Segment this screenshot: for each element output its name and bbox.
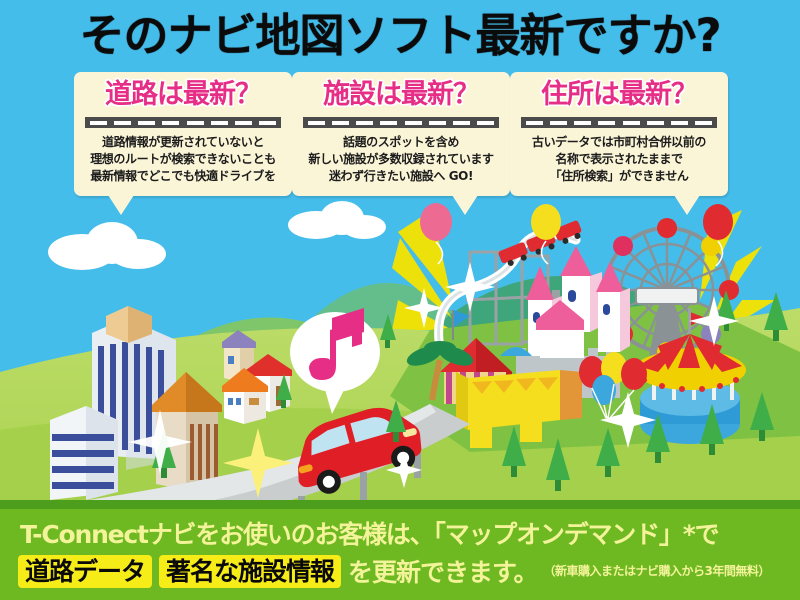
callout-address-title: 住所は最新？ xyxy=(510,72,728,112)
callout-address: 住所は最新？ 古いデータでは市町村合併以前の 名称で表示されたままで 「住所検索… xyxy=(510,72,728,196)
callout-line: 古いデータでは市町村合併以前の xyxy=(510,134,728,151)
road-divider-icon xyxy=(303,117,499,128)
page-title: そのナビ地図ソフト最新ですか? xyxy=(0,6,800,66)
callout-road-body: 道路情報が更新されていないと 理想のルートが検索できないことも 最新情報でどこで… xyxy=(74,134,292,185)
banner-subline: 道路データ 著名な施設情報 を更新できます。 （新車購入またはナビ購入から3年間… xyxy=(0,553,800,589)
callout-address-body: 古いデータでは市町村合併以前の 名称で表示されたままで 「住所検索」ができません xyxy=(510,134,728,185)
callout-road: 道路は最新？ 道路情報が更新されていないと 理想のルートが検索できないことも 最… xyxy=(74,72,292,196)
low-rise-building xyxy=(50,406,118,500)
callout-line: 理想のルートが検索できないことも xyxy=(74,151,292,168)
callout-line: 新しい施設が多数収録されています xyxy=(292,151,510,168)
callout-tail xyxy=(674,195,700,215)
callout-line: 「住所検索」ができません xyxy=(510,168,728,185)
tag-road-data: 道路データ xyxy=(18,555,152,588)
callout-facility-body: 話題のスポットを含め 新しい施設が多数収録されています 迷わず行きたい施設へ G… xyxy=(292,134,510,185)
road-divider-icon xyxy=(521,117,717,128)
callout-line: 話題のスポットを含め xyxy=(292,134,510,151)
banner-headline: T-Connectナビをお使いのお客様は、「マップオンデマンド」*で xyxy=(0,515,800,551)
callout-line: 名称で表示されたままで xyxy=(510,151,728,168)
callout-tail xyxy=(452,195,478,215)
callout-facility-title: 施設は最新？ xyxy=(292,72,510,112)
banner-tail-text: を更新できます。 xyxy=(348,553,538,589)
promo-poster: そのナビ地図ソフト最新ですか? 道路は最新？ 道路情報が更新されていないと 理想… xyxy=(0,0,800,600)
callout-line: 迷わず行きたい施設へ GO! xyxy=(292,168,510,185)
banner-footnote: （新車購入またはナビ購入から3年間無料） xyxy=(544,562,770,581)
road-divider-icon xyxy=(85,117,281,128)
callout-tail xyxy=(108,195,134,215)
bottom-banner: T-Connectナビをお使いのお客様は、「マップオンデマンド」*で 道路データ… xyxy=(0,500,800,600)
callout-line: 道路情報が更新されていないと xyxy=(74,134,292,151)
callout-road-title: 道路は最新？ xyxy=(74,72,292,112)
tag-facility-info: 著名な施設情報 xyxy=(159,555,341,588)
callout-line: 最新情報でどこでも快適ドライブを xyxy=(74,168,292,185)
callout-facility: 施設は最新？ 話題のスポットを含め 新しい施設が多数収録されています 迷わず行き… xyxy=(292,72,510,196)
